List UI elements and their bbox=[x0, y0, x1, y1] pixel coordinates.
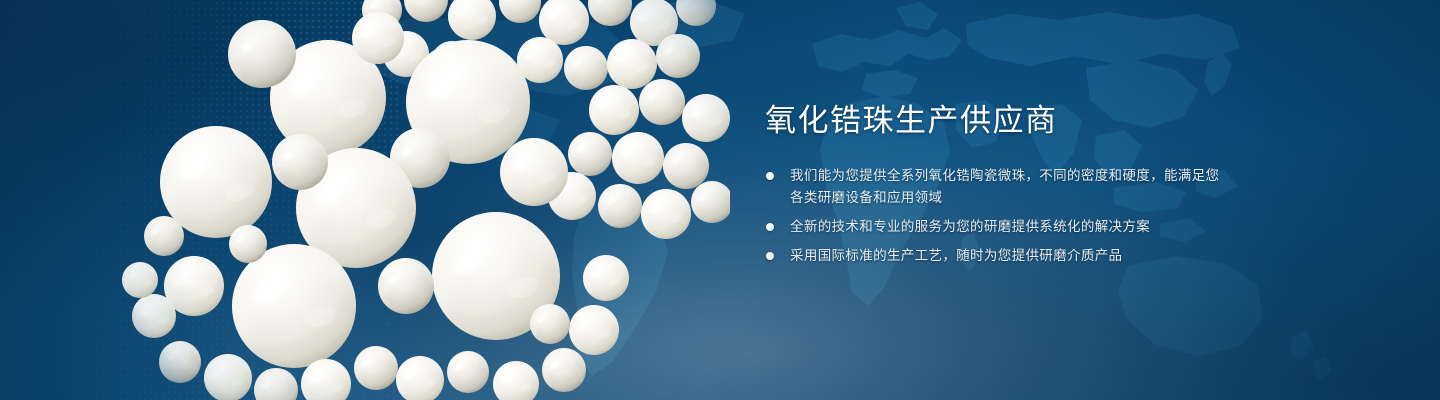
list-item: 全新的技术和专业的服务为您的研磨提供系统化的解决方案 bbox=[763, 216, 1233, 238]
list-item-text: 我们能为您提供全系列氧化锆陶瓷微珠，不同的密度和硬度，能满足您各类研磨设备和应用… bbox=[790, 168, 1219, 205]
feature-list: 我们能为您提供全系列氧化锆陶瓷微珠，不同的密度和硬度，能满足您各类研磨设备和应用… bbox=[763, 165, 1233, 267]
bullet-dot-icon bbox=[766, 223, 774, 231]
page-title: 氧化锆珠生产供应商 bbox=[765, 104, 1233, 139]
bullet-dot-icon bbox=[766, 172, 774, 180]
list-item-text: 采用国际标准的生产工艺，随时为您提供研磨介质产品 bbox=[790, 248, 1122, 263]
banner-copy: 氧化锆珠生产供应商 我们能为您提供全系列氧化锆陶瓷微珠，不同的密度和硬度，能满足… bbox=[763, 104, 1233, 267]
list-item-text: 全新的技术和专业的服务为您的研磨提供系统化的解决方案 bbox=[790, 219, 1150, 234]
hero-banner: 氧化锆珠生产供应商 我们能为您提供全系列氧化锆陶瓷微珠，不同的密度和硬度，能满足… bbox=[0, 0, 1440, 400]
list-item: 采用国际标准的生产工艺，随时为您提供研磨介质产品 bbox=[763, 245, 1233, 267]
list-item: 我们能为您提供全系列氧化锆陶瓷微珠，不同的密度和硬度，能满足您各类研磨设备和应用… bbox=[763, 165, 1233, 209]
bullet-dot-icon bbox=[766, 252, 774, 260]
zirconia-beads-photo bbox=[120, 0, 730, 400]
